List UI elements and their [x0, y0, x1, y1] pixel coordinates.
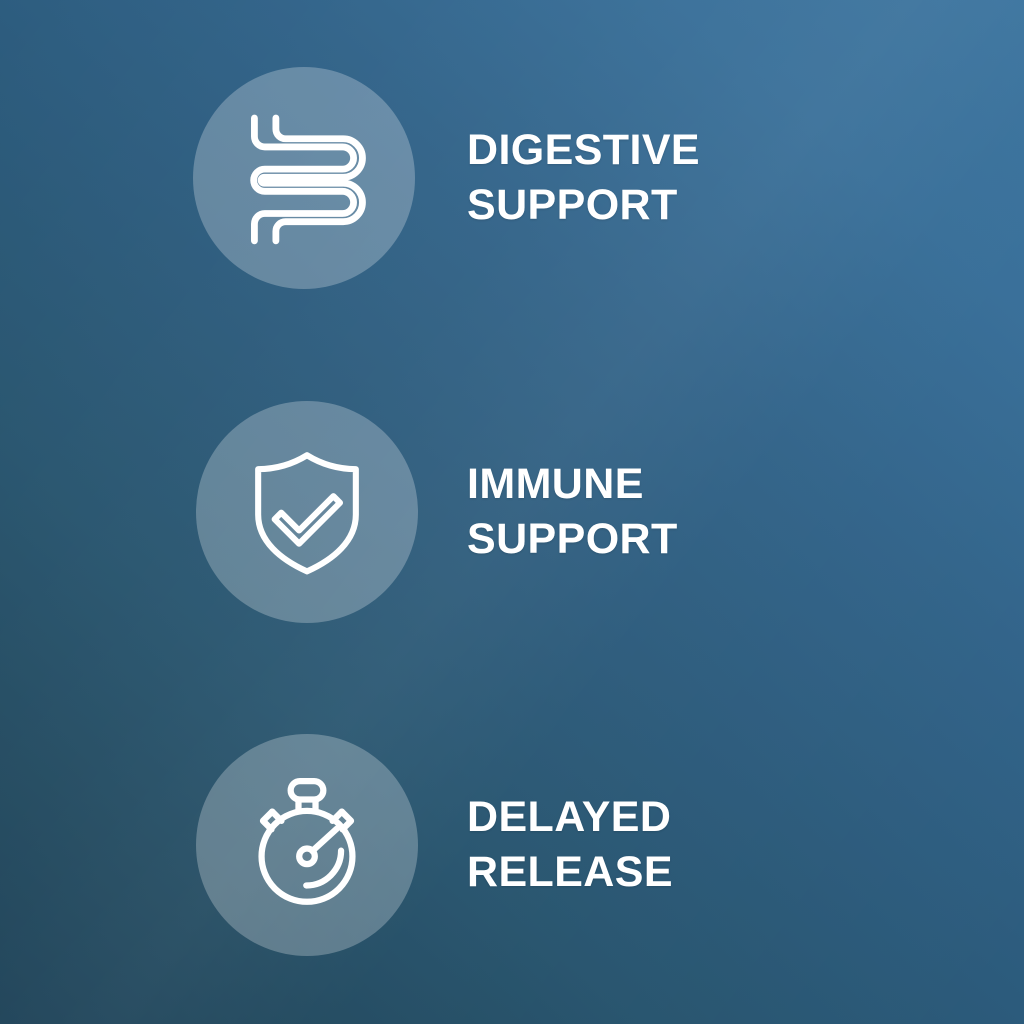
feature-list: DIGESTIVE SUPPORT IMMUNE SUPPORT: [0, 0, 1024, 1024]
icon-badge-digestive: [193, 67, 415, 289]
feature-row-immune-support: IMMUNE SUPPORT: [0, 401, 1024, 623]
feature-label-immune-support: IMMUNE SUPPORT: [467, 457, 678, 567]
shield-check-icon: [241, 446, 373, 578]
feature-row-digestive-support: DIGESTIVE SUPPORT: [0, 67, 1024, 289]
icon-badge-immune: [196, 401, 418, 623]
stopwatch-icon: [236, 774, 378, 916]
feature-label-delayed-release: DELAYED RELEASE: [467, 790, 673, 900]
icon-badge-delayed-release: [196, 734, 418, 956]
intestine-icon: [230, 104, 378, 252]
benefits-poster: DIGESTIVE SUPPORT IMMUNE SUPPORT: [0, 0, 1024, 1024]
feature-row-delayed-release: DELAYED RELEASE: [0, 734, 1024, 956]
feature-label-digestive-support: DIGESTIVE SUPPORT: [467, 123, 700, 233]
